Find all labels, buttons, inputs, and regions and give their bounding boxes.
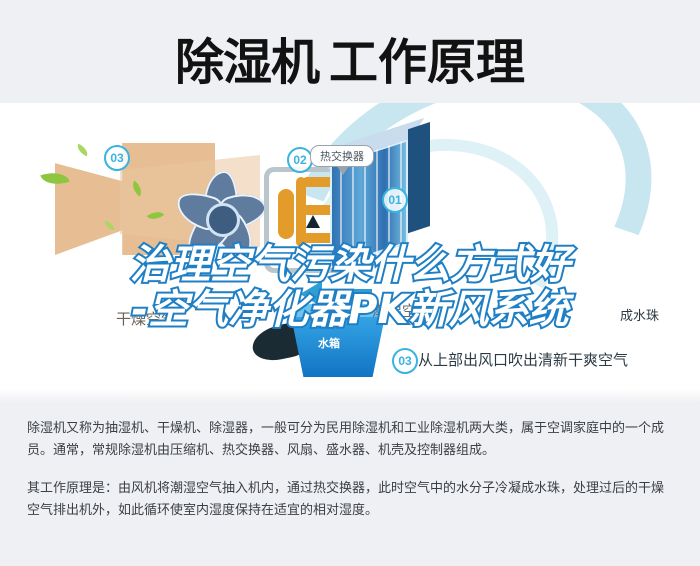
title-segment-product: 除湿机 [175, 34, 319, 91]
fan-hub [206, 203, 240, 237]
air-inlet-arrow-bar [318, 289, 372, 299]
condensation-label: 成水珠 [620, 305, 659, 324]
dry-air-label: 干燥空气 [116, 308, 176, 329]
title-segment-topic: 工作原理 [329, 34, 525, 91]
article-body: 除湿机又称为抽湿机、干燥机、除湿器，一般可分为民用除湿机和工业除湿机两大类，属于… [27, 418, 675, 538]
page-title: 除湿机工作原理 [0, 18, 700, 98]
article-paragraph-1: 除湿机又称为抽湿机、干燥机、除湿器，一般可分为民用除湿机和工业除湿机两大类，属于… [27, 418, 675, 462]
step-badge-01: 01 [382, 187, 408, 213]
step-badge-03-top: 03 [104, 145, 130, 171]
humid-air-label: 潮湿空气 [372, 300, 432, 321]
step-badge-03-bottom: 03 [392, 348, 418, 374]
page-root: 除湿机工作原理 [0, 0, 700, 566]
article-paragraph-2: 其工作原理是：由风机将潮湿空气抽入机内，通过热交换器，此时空气中的水分子冷凝成水… [27, 478, 675, 522]
page-title-text: 除湿机工作原理 [175, 23, 525, 94]
water-tank-label: 水箱 [318, 335, 340, 351]
step-badge-02: 02 [287, 147, 313, 173]
copper-coil [278, 189, 294, 239]
flow-arrow-down-icon [306, 215, 320, 228]
fan-icon [168, 165, 272, 269]
heat-exchanger-callout: 热交换器 [310, 145, 374, 167]
outlet-description-label: 从上部出风口吹出清新干爽空气 [418, 349, 628, 370]
leaf-icon [75, 144, 90, 157]
copper-coil [296, 177, 306, 247]
heat-exchanger-side [408, 122, 430, 233]
